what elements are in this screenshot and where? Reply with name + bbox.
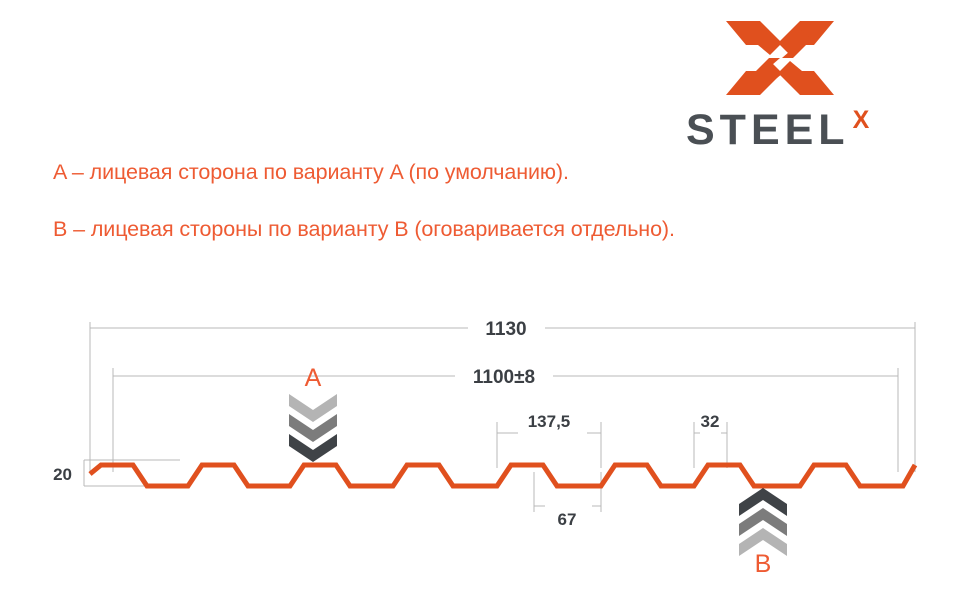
legend-line-a: A – лицевая сторона по варианту A (по ум… [53, 160, 569, 185]
diagram-page: STEEL X A – лицевая сторона по варианту … [0, 0, 970, 597]
marker-b-chevrons [739, 488, 787, 556]
dimension-rib-pitch: 137,5 [528, 412, 571, 431]
marker-b: B [739, 488, 787, 578]
steel-x-logo-mark-icon [724, 16, 836, 100]
dimension-valley-width: 67 [558, 510, 577, 529]
wordmark-text: STEEL [686, 108, 850, 152]
dimension-overall-width: 1130 [485, 319, 526, 340]
brand-wordmark: STEEL X [686, 108, 906, 152]
marker-a-label: A [305, 364, 322, 392]
profile-drawing: 137,5 32 67 20 [0, 300, 970, 597]
marker-a-chevrons [289, 394, 337, 462]
legend-line-b: B – лицевая стороны по варианту B (огова… [53, 217, 675, 242]
marker-b-label: B [755, 550, 772, 578]
corrugated-profile-path [90, 465, 915, 486]
brand-logo: STEEL X [686, 16, 906, 148]
dimension-rib-top-width: 32 [701, 412, 720, 431]
dimension-profile-height: 20 [53, 465, 72, 484]
marker-a: A [289, 364, 337, 462]
dimension-cover-width: 1100±8 [473, 367, 535, 388]
wordmark-superscript-x: X [853, 106, 870, 134]
